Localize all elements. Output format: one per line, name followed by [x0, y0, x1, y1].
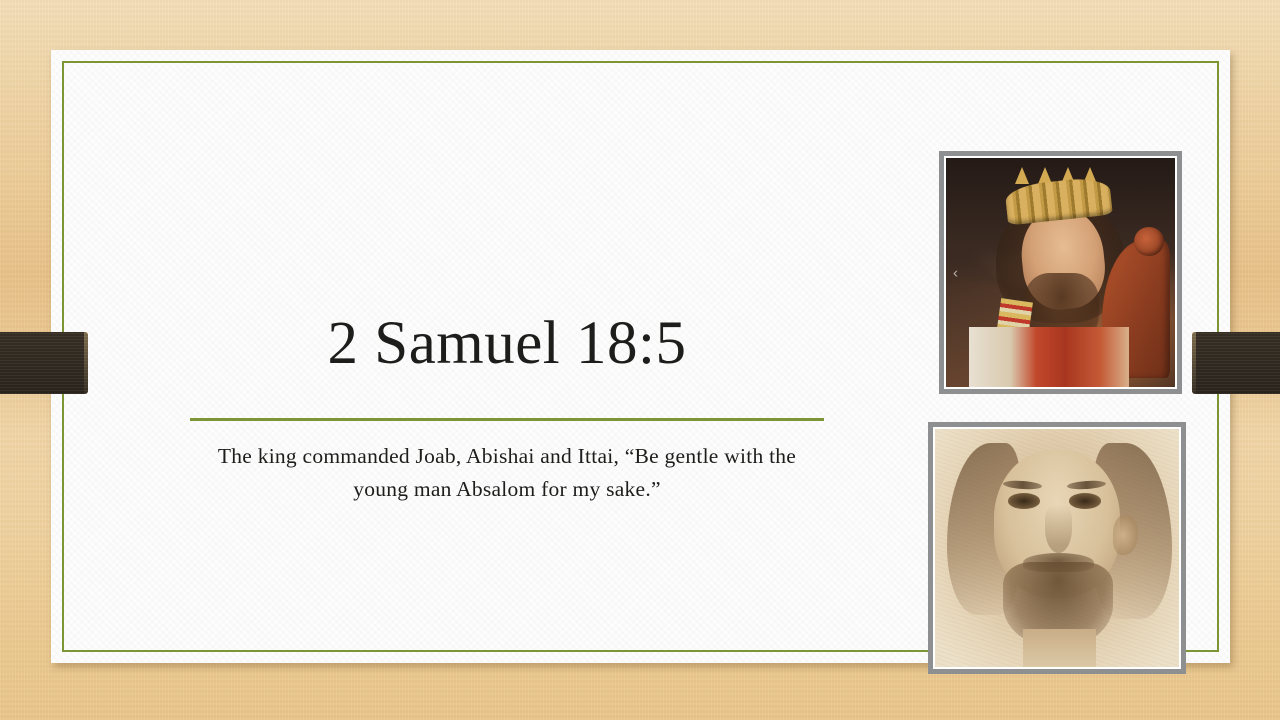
sketch-eye-right: [1069, 493, 1101, 508]
slide-background: 2 Samuel 18:5 The king commanded Joab, A…: [0, 0, 1280, 720]
decorative-strap-right: [1192, 332, 1280, 394]
sketch-neck: [1023, 629, 1096, 667]
title-block: 2 Samuel 18:5: [190, 312, 824, 377]
chevron-left-icon[interactable]: ‹: [953, 265, 958, 280]
decorative-strap-left: [0, 332, 88, 394]
crown-spike-icon: [1015, 167, 1029, 184]
title-divider: [190, 418, 824, 421]
slide-card: 2 Samuel 18:5 The king commanded Joab, A…: [51, 50, 1230, 663]
sketch-ear: [1113, 515, 1137, 555]
page-title: 2 Samuel 18:5: [190, 312, 824, 377]
body-block: The king commanded Joab, Abishai and Itt…: [190, 440, 824, 505]
sketch-nose: [1045, 505, 1072, 553]
picture-frame-bearded-man-sketch[interactable]: [928, 422, 1186, 674]
painting-harp-scroll: [1134, 227, 1164, 257]
picture-frame-king-david[interactable]: ‹: [939, 151, 1182, 394]
image-bearded-man-sketch: [935, 429, 1179, 667]
sketch-eye-left: [1008, 493, 1040, 508]
body-text: The king commanded Joab, Abishai and Itt…: [190, 440, 824, 505]
painting-robe: [969, 327, 1129, 387]
image-king-david-painting: ‹: [946, 158, 1175, 387]
